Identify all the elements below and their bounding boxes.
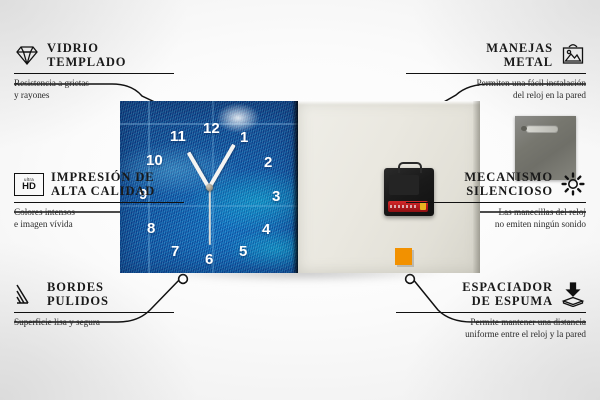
clock-numeral-6: 6 bbox=[205, 252, 213, 267]
callout-title-line2: METAL bbox=[486, 55, 553, 69]
callout-divider bbox=[406, 202, 586, 203]
callout-manejas-metal: MANEJAS METAL Permiten una fácil instala… bbox=[406, 41, 586, 101]
clock-second-hand bbox=[209, 188, 211, 245]
clock-numeral-12: 12 bbox=[203, 121, 220, 136]
callout-title-line2: DE ESPUMA bbox=[462, 294, 553, 308]
callout-title-line1: MECANISMO bbox=[464, 170, 553, 184]
callout-desc-line1: Permite mantener una distancia bbox=[396, 317, 586, 329]
callout-desc-line1: Colores intensos bbox=[14, 207, 184, 219]
callout-title-line1: IMPRESIÓN DE bbox=[51, 170, 155, 184]
gear-icon bbox=[560, 171, 586, 197]
callout-desc-line2: y rayones bbox=[14, 90, 174, 102]
callout-desc-line1: Superficie lisa y segura bbox=[14, 317, 174, 329]
callout-title-line1: BORDES bbox=[47, 280, 109, 294]
diamond-icon bbox=[14, 42, 40, 68]
polished-edges-icon bbox=[14, 281, 40, 307]
foam-spacer bbox=[395, 248, 412, 265]
callout-title-line2: ALTA CALIDAD bbox=[51, 184, 155, 198]
callout-title-line2: PULIDOS bbox=[47, 294, 109, 308]
clock-face-highlight bbox=[216, 103, 260, 133]
callout-desc-line2: no emiten ningún sonido bbox=[406, 219, 586, 231]
callout-mecanismo-silencioso: MECANISMO SILENCIOSO Las manecillas del … bbox=[406, 170, 586, 230]
clock-numeral-1: 1 bbox=[240, 130, 248, 145]
callout-espaciador-de-espuma: ESPACIADOR DE ESPUMA Permite mantener un… bbox=[396, 280, 586, 340]
clock-numeral-2: 2 bbox=[264, 155, 272, 170]
callout-title-line1: VIDRIO bbox=[47, 41, 126, 55]
hanger-keyhole-slot bbox=[526, 125, 558, 132]
callout-divider bbox=[396, 312, 586, 313]
callout-divider bbox=[14, 73, 174, 74]
clock-numeral-11: 11 bbox=[170, 129, 186, 144]
callout-desc-line2: uniforme entre el reloj y la pared bbox=[396, 329, 586, 341]
foam-spacer-icon bbox=[560, 281, 586, 307]
callout-desc-line2: e imagen vívida bbox=[14, 219, 184, 231]
ultra-hd-icon: ultra HD bbox=[14, 173, 44, 196]
callout-desc-line1: Las manecillas del reloj bbox=[406, 207, 586, 219]
callout-desc-line2: del reloj en la pared bbox=[406, 90, 586, 102]
callout-title-line1: ESPACIADOR bbox=[462, 280, 553, 294]
callout-divider bbox=[406, 73, 586, 74]
callout-desc-line1: Resistencia a grietas bbox=[14, 78, 174, 90]
callout-divider bbox=[14, 312, 174, 313]
callout-impresion-alta-calidad: ultra HD IMPRESIÓN DE ALTA CALIDAD Color… bbox=[14, 170, 184, 230]
callout-desc-line1: Permiten una fácil instalación bbox=[406, 78, 586, 90]
clock-numeral-4: 4 bbox=[262, 222, 270, 237]
callout-title-line2: SILENCIOSO bbox=[464, 184, 553, 198]
ultra-hd-icon-large-text: HD bbox=[22, 182, 36, 192]
clock-numeral-10: 10 bbox=[146, 153, 163, 168]
picture-frame-icon bbox=[560, 42, 586, 68]
callout-vidrio-templado: VIDRIO TEMPLADO Resistencia a grietas y … bbox=[14, 41, 174, 101]
infographic-canvas: 12 1 2 3 4 5 6 7 8 9 10 11 bbox=[0, 0, 600, 400]
clock-numeral-7: 7 bbox=[171, 244, 179, 259]
clock-numeral-3: 3 bbox=[272, 189, 280, 204]
callout-title-line2: TEMPLADO bbox=[47, 55, 126, 69]
callout-title-line1: MANEJAS bbox=[486, 41, 553, 55]
clock-numeral-5: 5 bbox=[239, 244, 247, 259]
panel-top-edge bbox=[298, 101, 480, 105]
callout-bordes-pulidos: BORDES PULIDOS Superficie lisa y segura bbox=[14, 280, 174, 329]
callout-divider bbox=[14, 202, 184, 203]
clock-center-pin bbox=[206, 184, 213, 191]
